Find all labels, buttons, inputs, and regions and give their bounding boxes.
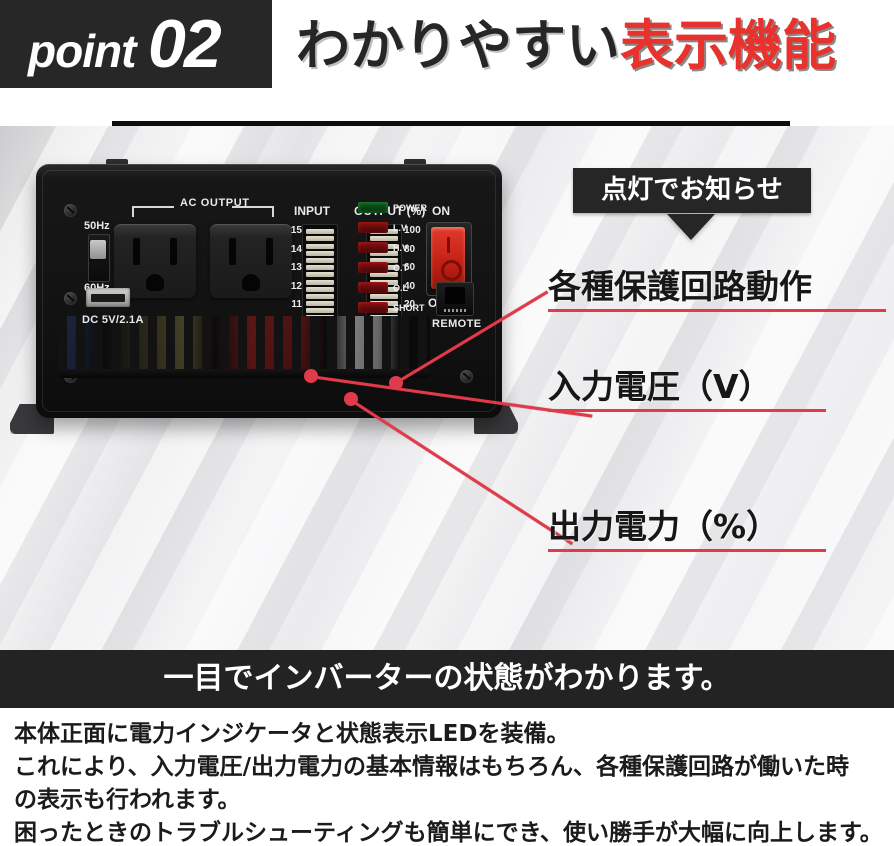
remote-port-pins — [444, 309, 466, 312]
header: point 02 わかりやすい表示機能 — [0, 0, 894, 124]
description-line: の表示も行われます。 — [14, 784, 888, 817]
description-paragraph: 本体正面に電力インジケータと状態表示LEDを装備。これにより、入力電圧/出力電力… — [14, 718, 888, 846]
callout-output-power-label: 出力電力（%） — [548, 508, 826, 546]
led-short — [358, 302, 388, 313]
led-label-ot: O.T — [393, 263, 408, 273]
inverter-front-panel: AC OUTPUT 50Hz 60Hz INPUT OUTPUT (%) 151… — [36, 164, 502, 418]
callout-input-voltage-label: 入力電圧（V） — [548, 368, 826, 406]
usb-port — [86, 288, 130, 307]
led-label-ol: O.L — [393, 283, 408, 293]
callout-underline — [548, 409, 826, 412]
callout-protection-label: 各種保護回路動作 — [548, 268, 886, 306]
callout-protection: 各種保護回路動作 — [548, 268, 886, 312]
point-label: point — [28, 28, 135, 74]
notice-badge-label: 点灯でお知らせ — [573, 168, 811, 213]
point-number: 02 — [148, 10, 220, 78]
remote-port — [436, 282, 474, 316]
summary-banner: 一目でインバーターの状態がわかります。 — [0, 650, 894, 708]
vent-lip — [58, 369, 430, 378]
leader-dot-protection — [389, 376, 403, 390]
usb-label: DC 5V/2.1A — [82, 314, 144, 326]
remote-label: REMOTE — [432, 318, 481, 330]
callout-output-power: 出力電力（%） — [548, 508, 826, 552]
leader-dot-power — [344, 392, 358, 406]
led-label-lv: L.V — [393, 223, 407, 233]
led-ot — [358, 262, 388, 273]
description-line: 困ったときのトラブルシューティングも簡単にでき、使い勝手が大幅に向上します。 — [14, 817, 888, 846]
led-label-short: SHORT — [393, 303, 425, 313]
notice-badge: 点灯でお知らせ — [573, 168, 811, 213]
page-title-red: 表示機能 — [620, 14, 836, 77]
callout-input-voltage: 入力電圧（V） — [548, 368, 826, 412]
page-title: わかりやすい表示機能 — [296, 8, 894, 88]
summary-banner-text: 一目でインバーターの状態がわかります。 — [0, 650, 894, 708]
led-label-power: POWER — [393, 203, 427, 213]
leader-dot-voltage — [304, 369, 318, 383]
led-power — [358, 202, 388, 213]
callout-underline — [548, 549, 826, 552]
description-line: 本体正面に電力インジケータと状態表示LEDを装備。 — [14, 718, 888, 751]
page-title-dark: わかりやすい — [296, 14, 620, 77]
callout-underline — [548, 309, 886, 312]
led-ol — [358, 282, 388, 293]
led-hv — [358, 242, 388, 253]
infographic-page: point 02 わかりやすい表示機能 点灯でお知らせ 各種保護回路動作 入力電… — [0, 0, 894, 846]
switch-off-mark-icon — [441, 260, 462, 281]
description-line: これにより、入力電圧/出力電力の基本情報はもちろん、各種保護回路が働いた時 — [14, 751, 888, 784]
point-badge: point 02 — [0, 0, 272, 88]
led-lv — [358, 222, 388, 233]
switch-on-label: ON — [432, 204, 450, 218]
down-triangle-icon — [667, 214, 715, 240]
led-label-hv: H.V — [393, 243, 408, 253]
switch-on-mark-icon — [447, 237, 450, 253]
power-rocker-switch[interactable] — [431, 227, 465, 289]
